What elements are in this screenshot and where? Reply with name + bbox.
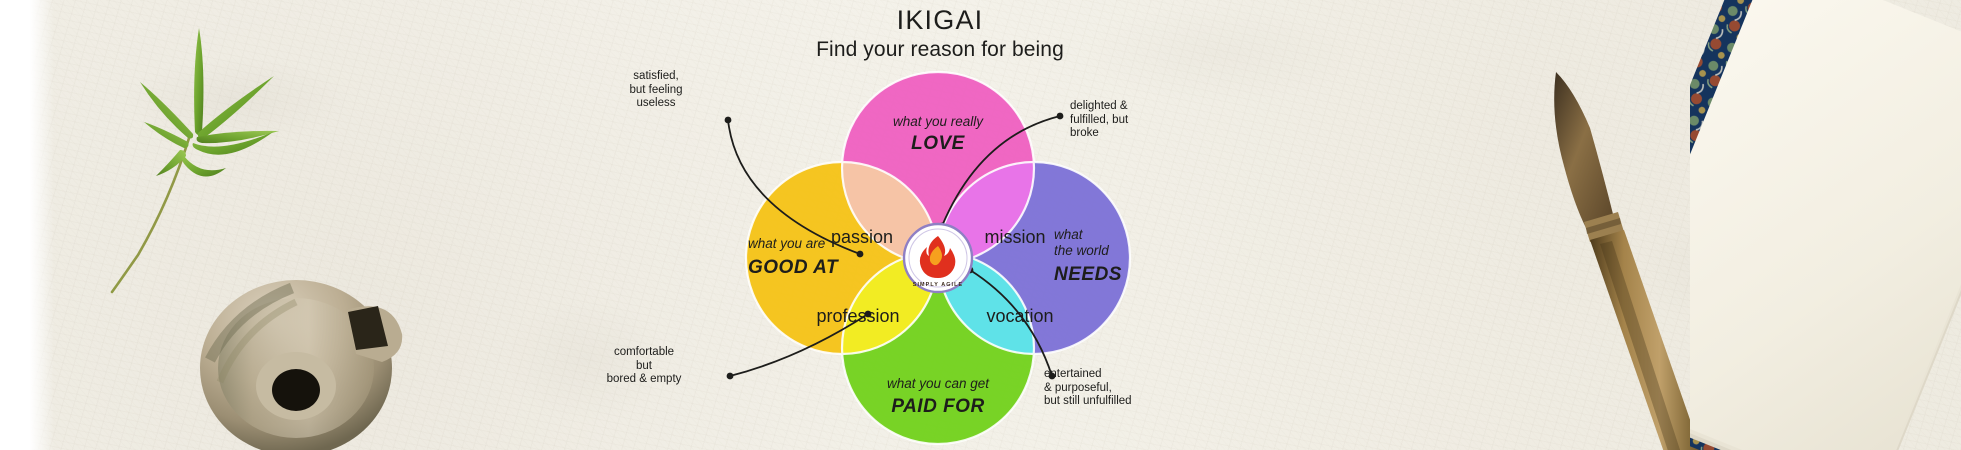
- simply-agile-flame-logo: SIMPLY AGILE: [904, 224, 972, 292]
- infographic-heading: IKIGAI Find your reason for being: [560, 6, 1320, 62]
- annotation-entertained: entertained & purposeful, but still unfu…: [1044, 368, 1216, 409]
- ikigai-venn-diagram: what you really LOVE what you are GOOD A…: [560, 58, 1320, 450]
- love-line2: LOVE: [911, 133, 966, 154]
- overlap-label-profession: profession: [816, 306, 899, 326]
- paid-for-line2: PAID FOR: [891, 396, 984, 417]
- left-white-edge: [0, 0, 54, 450]
- annotation-satisfied: satisfied, but feeling useless: [594, 70, 718, 111]
- screenshot-canvas: IKIGAI Find your reason for being: [0, 0, 1961, 450]
- needs-line2: NEEDS: [1054, 264, 1122, 285]
- love-line1: what you really: [893, 114, 984, 129]
- overlap-label-mission: mission: [984, 227, 1045, 247]
- notebook-with-patterned-cover: [1690, 0, 1961, 450]
- paid-for-line1: what you can get: [887, 376, 990, 391]
- good-at-line1: what you are: [748, 236, 825, 251]
- annotation-delighted: delighted & fulfilled, but broke: [1070, 100, 1200, 141]
- needs-line1: what: [1054, 227, 1084, 242]
- page-title: IKIGAI: [560, 6, 1320, 34]
- ikigai-infographic: IKIGAI Find your reason for being: [560, 0, 1320, 450]
- annotation-comfortable: comfortable but bored & empty: [574, 346, 714, 387]
- circle-label-paid-for: what you can get PAID FOR: [887, 376, 990, 417]
- overlap-label-vocation: vocation: [986, 306, 1053, 326]
- good-at-line2: GOOD AT: [748, 257, 839, 278]
- logo-wordmark: SIMPLY AGILE: [913, 282, 963, 288]
- ceramic-vase: [196, 250, 426, 450]
- overlap-label-passion: passion: [831, 227, 893, 247]
- needs-line1b: the world: [1054, 243, 1109, 258]
